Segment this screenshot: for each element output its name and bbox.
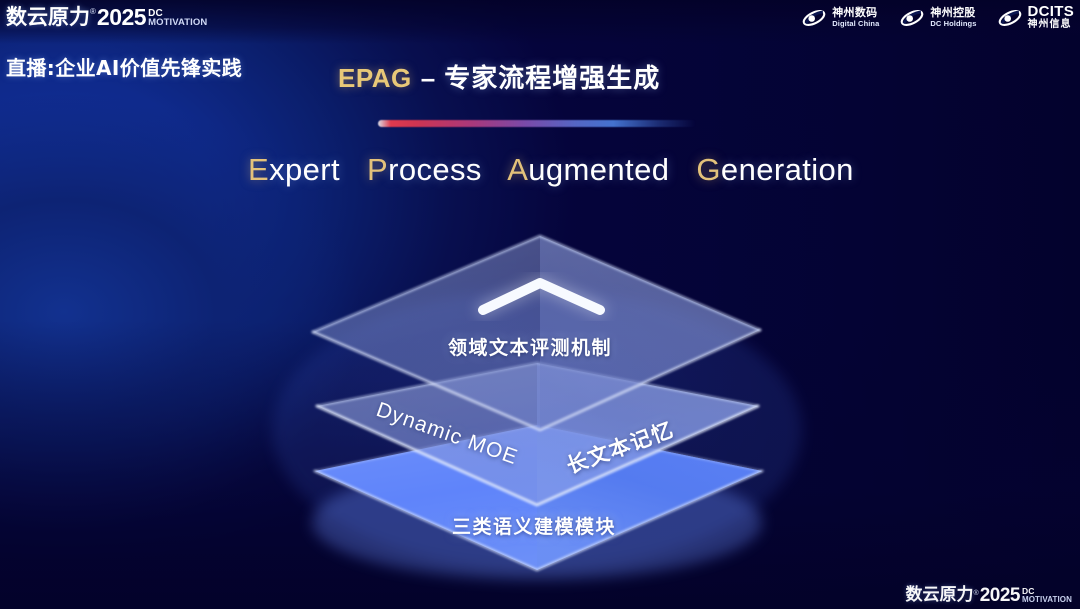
watermark-motivation: MOTIVATION: [1022, 595, 1072, 604]
watermark-logo: 数云原力 ® 2025 DC MOTIVATION: [906, 586, 1072, 605]
slide-canvas: 数云原力 ® 2025 DC MOTIVATION 直播:企业AI价值先锋实践 …: [0, 0, 1080, 609]
watermark-chinese: 数云原力: [906, 586, 974, 605]
watermark-year: 2025: [980, 586, 1020, 605]
watermark-dc-motivation: DC MOTIVATION: [1022, 587, 1072, 605]
watermark-registered-icon: ®: [974, 586, 979, 600]
layered-architecture-diagram: [0, 0, 1080, 609]
watermark-dc: DC: [1022, 587, 1072, 595]
